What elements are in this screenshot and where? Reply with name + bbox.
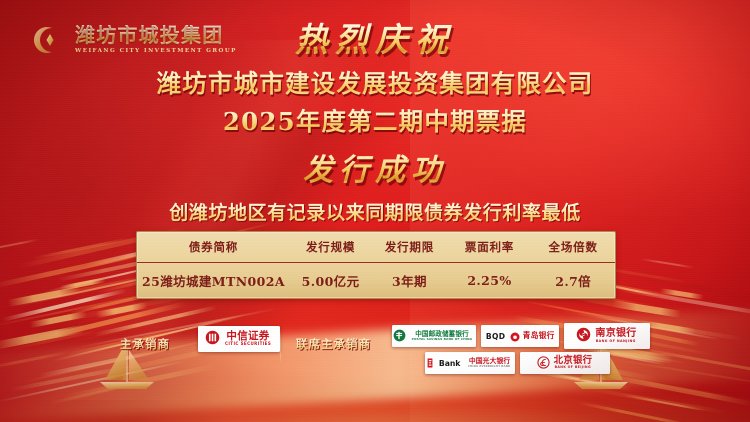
chip-name-en: POSTAL SAVINGS BANK OF CHINA (412, 338, 473, 341)
section-divider (280, 328, 281, 364)
bqd-logo-icon (510, 327, 520, 346)
headline-line2: 2025年度第二期中期票据 (0, 103, 750, 138)
headline-subtitle: 创潍坊地区有记录以来同期限债券发行利率最低 (0, 198, 750, 225)
headline-line1: 潍坊市城市建设发展投资集团有限公司 (0, 65, 750, 100)
chip-name-en: BANK OF NANJING (596, 340, 636, 343)
headline-hero: 热烈庆祝 (0, 22, 750, 59)
underwriter-logo-china-everbright-bank: Bank 中国光大银行 CHINA EVERBRIGHT BANK (425, 352, 515, 374)
cell-bond-name: 25潍坊城建MTN002A (137, 263, 290, 299)
chip-name-cn: 中信证券 (226, 331, 269, 342)
underwriter-logo-bank-of-beijing: 北京银行 BANK OF BEIJING (520, 352, 610, 374)
headline-hero2: 发行成功 (0, 145, 750, 189)
col-header-coupon-rate: 票面利率 (448, 232, 532, 263)
cell-subscription-multiple: 2.7倍 (531, 263, 615, 299)
underwriter-logo-psbc: 中国邮政储蓄银行 POSTAL SAVINGS BANK OF CHINA (392, 325, 476, 347)
chip-name-cn: 北京银行 (554, 356, 593, 365)
chip-name-en: CHINA EVERBRIGHT BANK (468, 366, 511, 369)
table-row: 25潍坊城建MTN002A 5.00亿元 3年期 2.25% 2.7倍 (137, 263, 615, 299)
col-header-subscription-multiple: 全场倍数 (531, 232, 615, 263)
bank-of-nanjing-logo-icon (576, 327, 591, 346)
underwriters-section: 主承销商 联席主承销商 中信证券 CITIC SECURITIES (120, 326, 640, 378)
bank-of-beijing-logo-icon (537, 354, 550, 373)
poster-canvas: 潍坊市城投集团 WEIFANG CITY INVESTMENT GROUP 热烈… (0, 0, 750, 422)
cell-coupon-rate: 2.25% (448, 263, 532, 299)
cell-issue-term: 3年期 (371, 263, 447, 299)
bond-table-panel: 债券简称 发行规模 发行期限 票面利率 全场倍数 25潍坊城建MTN002A 5… (136, 231, 616, 299)
everbright-logo-icon (427, 354, 439, 373)
table-header-row: 债券简称 发行规模 发行期限 票面利率 全场倍数 (137, 232, 615, 263)
psbc-logo-icon (393, 327, 406, 346)
headline-block: 热烈庆祝 潍坊市城市建设发展投资集团有限公司 2025年度第二期中期票据 发行成… (0, 22, 750, 225)
chip-name-cn: 南京银行 (595, 329, 636, 339)
chip-name-en: CITIC SECURITIES (225, 343, 271, 347)
cell-issue-size: 5.00亿元 (290, 263, 371, 299)
chip-name-en: BANK OF BEIJING (555, 367, 591, 370)
chip-name-cn: 中国邮政储蓄银行 (415, 331, 469, 338)
col-header-issue-term: 发行期限 (371, 232, 447, 263)
chip-mark-bqd: BQD (486, 332, 506, 340)
bond-table: 债券简称 发行规模 发行期限 票面利率 全场倍数 25潍坊城建MTN002A 5… (137, 232, 615, 298)
chip-name-cn: 青岛银行 (523, 332, 555, 340)
col-header-issue-size: 发行规模 (290, 232, 371, 263)
underwriter-logo-bank-of-qingdao: BQD 青岛银行 (481, 325, 559, 347)
underwriter-logo-citic-securities: 中信证券 CITIC SECURITIES (198, 326, 280, 352)
col-header-bond-name: 债券简称 (137, 232, 290, 263)
chip-mark-everbright: Bank (439, 359, 460, 367)
lead-underwriter-label: 主承销商 (120, 336, 170, 352)
citic-securities-logo-icon (205, 330, 220, 349)
underwriter-logo-bank-of-nanjing: 南京银行 BANK OF NANJING (564, 323, 650, 349)
joint-underwriter-label: 联席主承销商 (296, 336, 371, 352)
